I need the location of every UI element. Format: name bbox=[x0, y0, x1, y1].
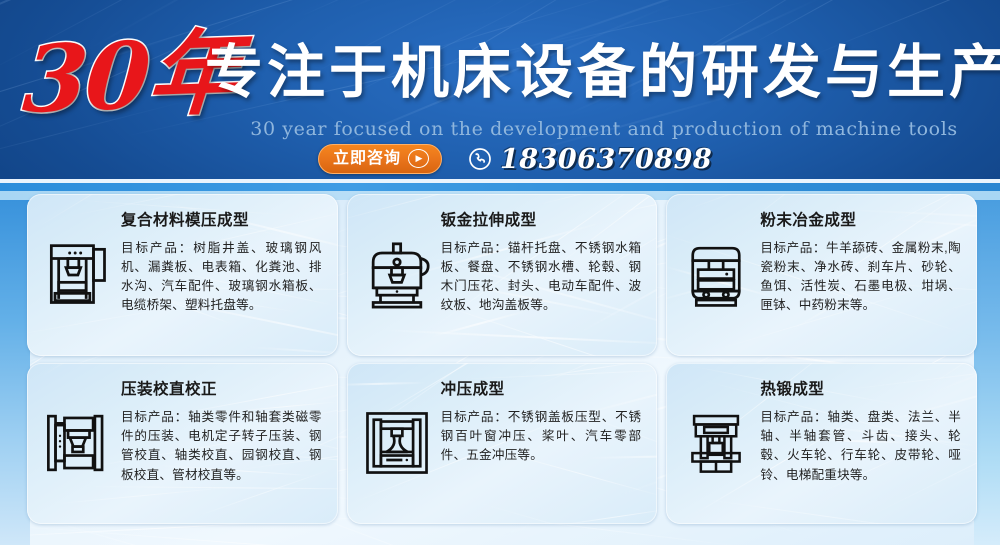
cta-row: 立即咨询 ▶ 18306370898 bbox=[318, 144, 712, 174]
card-title: 粉末冶金成型 bbox=[760, 212, 961, 231]
card-body: 热锻成型 目标产品：轴类、盘类、法兰、半轴、半轴套管、斗齿、接头、轮毂、火车轮、… bbox=[760, 363, 977, 495]
product-card-grid: 复合材料模压成型 目标产品：树脂井盖、玻璃钢风机、漏粪板、电表箱、化粪池、排水沟… bbox=[27, 194, 977, 524]
header-accent-band bbox=[0, 183, 1000, 191]
card-body: 冲压成型 目标产品：不锈钢盖板压型、不锈钢百叶窗冲压、桨叶、汽车零部件、五金冲压… bbox=[441, 363, 658, 476]
card-body: 压装校直校正 目标产品：轴类零件和轴套类磁零件的压装、电机定子转子压装、钢管校直… bbox=[121, 363, 338, 495]
compression-molding-press-icon bbox=[27, 238, 121, 312]
card-description: 目标产品：锚杆托盘、不锈钢水箱板、餐盘、不锈钢水槽、轮毂、钢木门压花、封头、电动… bbox=[441, 239, 642, 316]
card-description: 目标产品：牛羊舔砖、金属粉末,陶瓷粉末、净水砖、刹车片、砂轮、鱼饵、活性炭、石墨… bbox=[760, 239, 961, 316]
banner-stage: 30年 专注于机床设备的研发与生产 30 year focused on the… bbox=[0, 0, 1000, 545]
left-blue-edge bbox=[0, 200, 30, 545]
card-body: 复合材料模压成型 目标产品：树脂井盖、玻璃钢风机、漏粪板、电表箱、化粪池、排水沟… bbox=[121, 194, 338, 325]
card-title: 压装校直校正 bbox=[121, 381, 322, 400]
card-body: 钣金拉伸成型 目标产品：锚杆托盘、不锈钢水箱板、餐盘、不锈钢水槽、轮毂、钢木门压… bbox=[441, 194, 658, 325]
banner-header: 30年 专注于机床设备的研发与生产 30 year focused on the… bbox=[0, 0, 1000, 179]
consult-now-button[interactable]: 立即咨询 ▶ bbox=[318, 144, 442, 174]
card-description: 目标产品：树脂井盖、玻璃钢风机、漏粪板、电表箱、化粪池、排水沟、汽车配件、玻璃钢… bbox=[121, 239, 322, 316]
product-card-composite-molding[interactable]: 复合材料模压成型 目标产品：树脂井盖、玻璃钢风机、漏粪板、电表箱、化粪池、排水沟… bbox=[27, 194, 338, 356]
arrow-right-circle-icon: ▶ bbox=[408, 149, 429, 168]
product-card-press-fit-straightening[interactable]: 压装校直校正 目标产品：轴类零件和轴套类磁零件的压装、电机定子转子压装、钢管校直… bbox=[27, 363, 338, 525]
card-description: 目标产品：不锈钢盖板压型、不锈钢百叶窗冲压、桨叶、汽车零部件、五金冲压等。 bbox=[441, 408, 642, 465]
product-card-sheet-metal-drawing[interactable]: 钣金拉伸成型 目标产品：锚杆托盘、不锈钢水箱板、餐盘、不锈钢水槽、轮毂、钢木门压… bbox=[347, 194, 658, 356]
stamping-press-icon bbox=[347, 409, 441, 477]
product-card-hot-forging[interactable]: 热锻成型 目标产品：轴类、盘类、法兰、半轴、半轴套管、斗齿、接头、轮毂、火车轮、… bbox=[666, 363, 977, 525]
card-description: 目标产品：轴类零件和轴套类磁零件的压装、电机定子转子压装、钢管校直、轴类校直、园… bbox=[121, 408, 322, 485]
hot-forging-press-icon bbox=[666, 409, 760, 477]
card-title: 冲压成型 bbox=[441, 381, 642, 400]
press-fit-straightening-icon bbox=[27, 409, 121, 477]
subheadline-text: 30 year focused on the development and p… bbox=[224, 118, 984, 140]
product-card-powder-metallurgy[interactable]: 粉末冶金成型 目标产品：牛羊舔砖、金属粉末,陶瓷粉末、净水砖、刹车片、砂轮、鱼饵… bbox=[666, 194, 977, 356]
card-title: 热锻成型 bbox=[760, 381, 961, 400]
card-description: 目标产品：轴类、盘类、法兰、半轴、半轴套管、斗齿、接头、轮毂、火车轮、行车轮、皮… bbox=[760, 408, 961, 485]
consult-now-label: 立即咨询 bbox=[333, 151, 401, 167]
product-card-stamping[interactable]: 冲压成型 目标产品：不锈钢盖板压型、不锈钢百叶窗冲压、桨叶、汽车零部件、五金冲压… bbox=[347, 363, 658, 525]
powder-metallurgy-press-icon bbox=[666, 239, 760, 311]
card-title: 复合材料模压成型 bbox=[121, 212, 322, 231]
card-body: 粉末冶金成型 目标产品：牛羊舔砖、金属粉末,陶瓷粉末、净水砖、刹车片、砂轮、鱼饵… bbox=[760, 194, 977, 325]
phone-block[interactable]: 18306370898 bbox=[468, 146, 712, 173]
right-blue-edge bbox=[974, 200, 1000, 545]
card-title: 钣金拉伸成型 bbox=[441, 212, 642, 231]
headline-text: 专注于机床设备的研发与生产 bbox=[205, 44, 1000, 102]
sheet-metal-drawing-press-icon bbox=[347, 238, 441, 312]
telephone-icon bbox=[468, 147, 492, 171]
phone-number: 18306370898 bbox=[500, 146, 712, 173]
